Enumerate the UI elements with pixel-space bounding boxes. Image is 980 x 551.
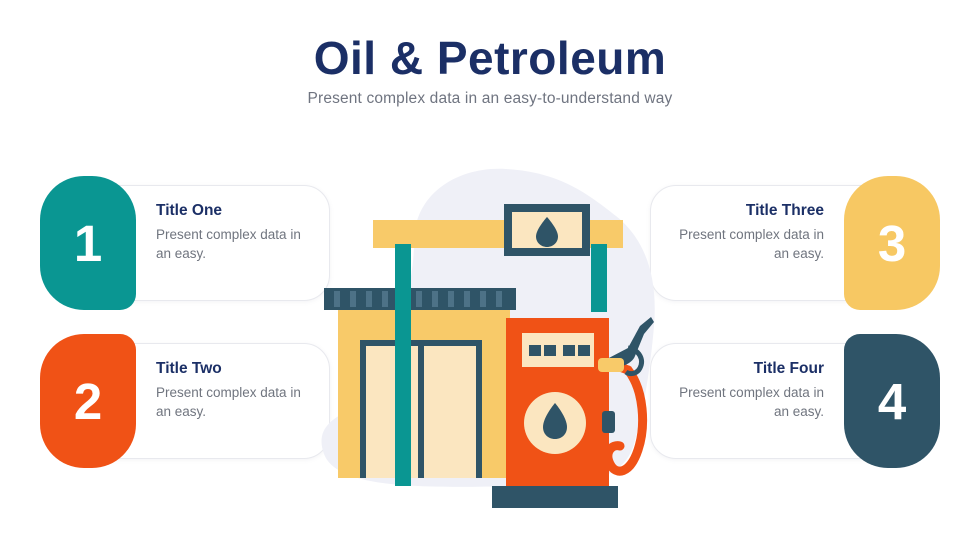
card-text-4: Title Four Present complex data in an ea… [678, 360, 824, 444]
card-number-3: 3 [878, 218, 906, 269]
page-title: Oil & Petroleum [0, 34, 980, 82]
gas-station-illustration [310, 158, 674, 510]
card-text-1: Title One Present complex data in an eas… [156, 202, 302, 286]
card-number-badge-4: 4 [844, 334, 940, 468]
info-card-1[interactable]: 1 Title One Present complex data in an e… [40, 176, 294, 292]
pump-drop-logo [524, 392, 586, 454]
card-title-3: Title Three [678, 202, 824, 221]
card-description-4: Present complex data in an easy. [678, 383, 824, 422]
info-card-3[interactable]: 3 Title Three Present complex data in an… [686, 176, 940, 292]
pump-display-panel [522, 333, 594, 367]
card-number-4: 4 [878, 376, 906, 427]
canopy-post-left-front [395, 244, 411, 486]
striped-awning [324, 288, 516, 310]
card-title-1: Title One [156, 202, 302, 221]
info-card-2[interactable]: 2 Title Two Present complex data in an e… [40, 334, 294, 450]
slide-canvas: Oil & Petroleum Present complex data in … [0, 0, 980, 551]
pump-base [492, 486, 618, 508]
canopy-post-right [591, 244, 607, 312]
card-number-2: 2 [74, 376, 102, 427]
card-number-badge-3: 3 [844, 176, 940, 310]
pump-hose-holder [602, 411, 615, 433]
info-card-4[interactable]: 4 Title Four Present complex data in an … [686, 334, 940, 450]
card-number-badge-1: 1 [40, 176, 136, 310]
double-doors [360, 340, 482, 478]
card-number-badge-2: 2 [40, 334, 136, 468]
card-title-4: Title Four [678, 360, 824, 379]
card-text-2: Title Two Present complex data in an eas… [156, 360, 302, 444]
card-title-2: Title Two [156, 360, 302, 379]
card-description-2: Present complex data in an easy. [156, 383, 302, 422]
card-number-1: 1 [74, 218, 102, 269]
card-text-3: Title Three Present complex data in an e… [678, 202, 824, 286]
card-description-1: Present complex data in an easy. [156, 225, 302, 264]
page-subtitle: Present complex data in an easy-to-under… [0, 90, 980, 108]
slide-header: Oil & Petroleum Present complex data in … [0, 34, 980, 108]
card-description-3: Present complex data in an easy. [678, 225, 824, 264]
